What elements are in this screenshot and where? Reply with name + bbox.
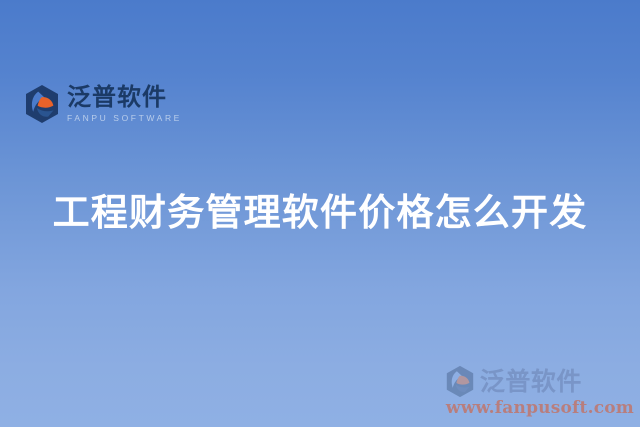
watermark-logo-row: 泛普软件 — [445, 365, 634, 398]
site-watermark: 泛普软件 www.fanpusoft.com — [445, 365, 634, 417]
brand-name-en: FANPU SOFTWARE — [67, 114, 182, 123]
brand-name-cn: 泛普软件 — [67, 85, 182, 109]
fanpu-hexagon-logo-icon — [24, 84, 60, 124]
watermark-url: www.fanpusoft.com — [445, 400, 634, 417]
brand-logo: 泛普软件 FANPU SOFTWARE — [24, 84, 182, 124]
promo-banner: 泛普软件 FANPU SOFTWARE 工程财务管理软件价格怎么开发 泛普软件 … — [0, 0, 640, 427]
fanpu-hexagon-watermark-icon — [445, 365, 475, 398]
brand-wordmark: 泛普软件 FANPU SOFTWARE — [67, 85, 182, 123]
banner-headline: 工程财务管理软件价格怎么开发 — [0, 190, 640, 236]
watermark-name-cn: 泛普软件 — [480, 369, 582, 394]
